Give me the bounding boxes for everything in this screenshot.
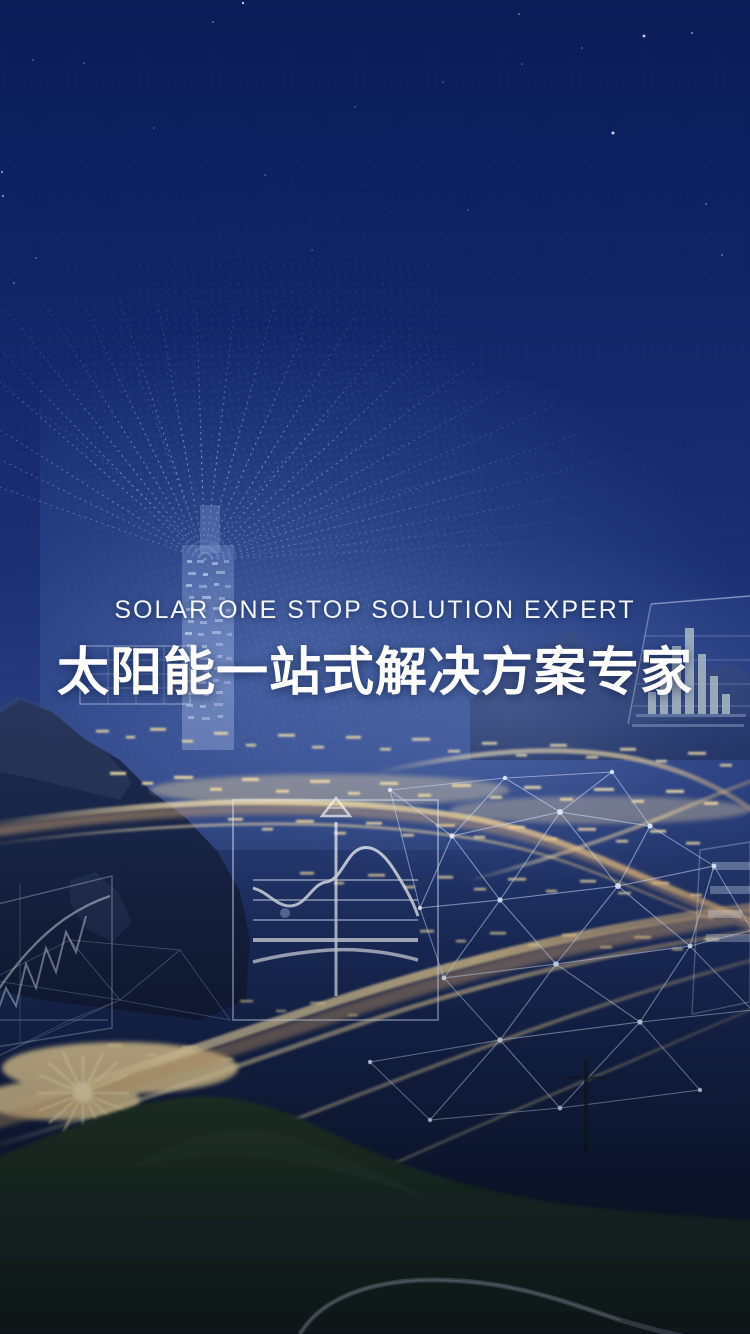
- banner-headline: 太阳能一站式解决方案专家: [0, 645, 750, 701]
- solar-banner: SOLAR ONE STOP SOLUTION EXPERT 太阳能一站式解决方…: [0, 0, 750, 1334]
- center-glow-overlay: [200, 540, 750, 880]
- banner-copy: SOLAR ONE STOP SOLUTION EXPERT 太阳能一站式解决方…: [0, 598, 750, 701]
- banner-eyebrow: SOLAR ONE STOP SOLUTION EXPERT: [0, 598, 750, 623]
